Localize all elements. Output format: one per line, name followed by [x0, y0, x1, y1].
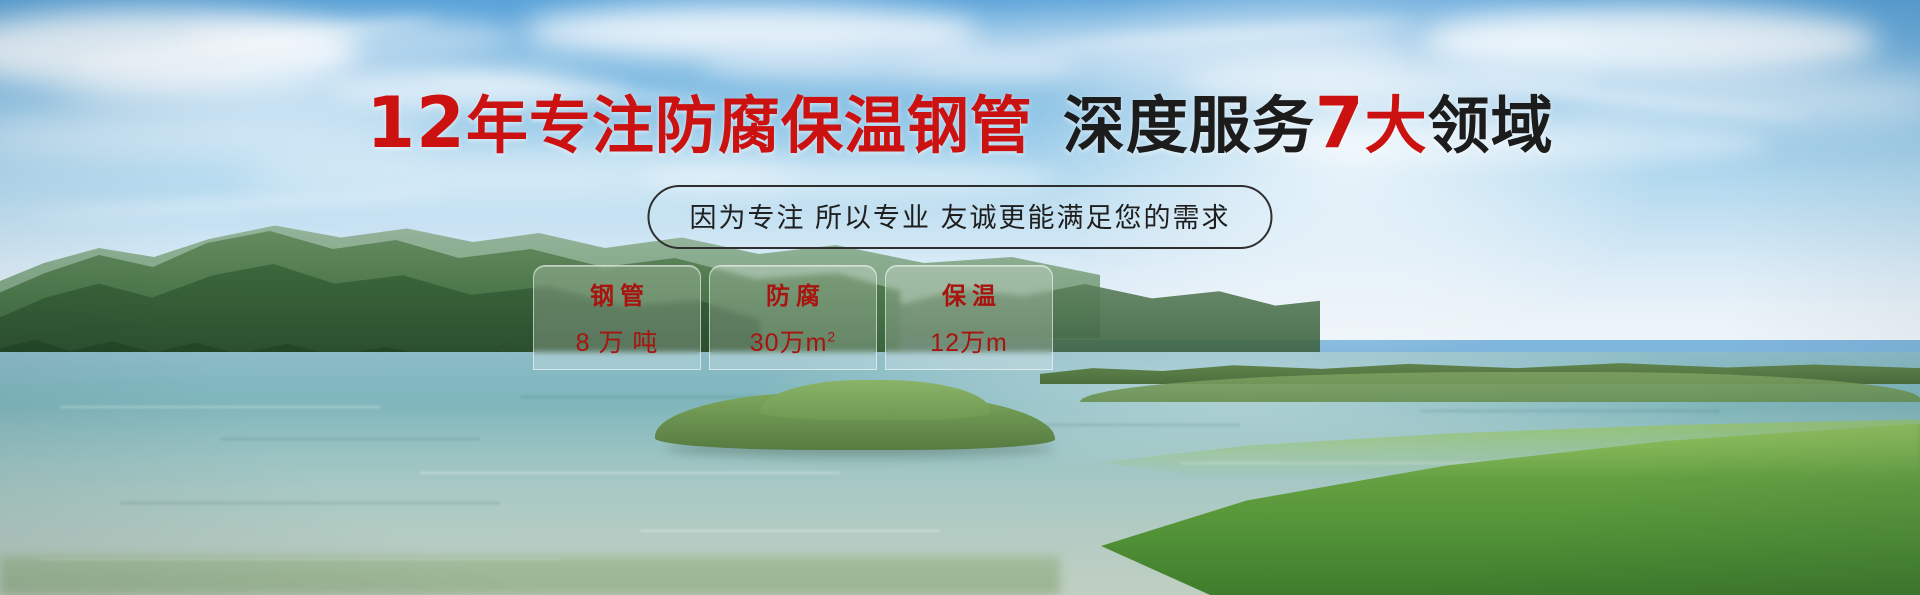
headline-fields-label: 领域	[1428, 92, 1554, 161]
stat-card-unit-exponent: 2	[827, 329, 836, 345]
headline-fields-big: 大	[1365, 92, 1428, 161]
promo-banner: 12年专注防腐保温钢管深度服务7大领域 因为专注 所以专业 友诚更能满足您的需求…	[0, 0, 1920, 595]
headline-years-number: 12	[366, 82, 465, 164]
stat-card-steel-pipe: 钢管 8 万 吨	[533, 265, 701, 370]
stat-card-value: 12万m	[930, 323, 1008, 359]
stat-card-value: 8 万 吨	[576, 323, 659, 359]
headline-years-unit: 年专注防腐保温钢管	[466, 92, 1033, 161]
stat-card-title: 钢管	[584, 276, 650, 311]
stat-card-value: 30万m2	[750, 323, 836, 359]
stat-card-title: 防腐	[760, 276, 826, 311]
banner-content: 12年专注防腐保温钢管深度服务7大领域 因为专注 所以专业 友诚更能满足您的需求…	[0, 0, 1920, 595]
stat-card-title: 保温	[936, 276, 1002, 311]
stat-card-list: 钢管 8 万 吨 防腐 30万m2 保温 12万m	[533, 265, 1053, 370]
headline-service: 深度服务	[1063, 92, 1315, 161]
stat-card-anticorrosion: 防腐 30万m2	[709, 265, 877, 370]
headline-fields-number: 7	[1315, 82, 1365, 164]
stat-card-insulation: 保温 12万m	[885, 265, 1053, 370]
subtitle-pill: 因为专注 所以专业 友诚更能满足您的需求	[647, 185, 1272, 249]
headline: 12年专注防腐保温钢管深度服务7大领域	[0, 88, 1920, 158]
